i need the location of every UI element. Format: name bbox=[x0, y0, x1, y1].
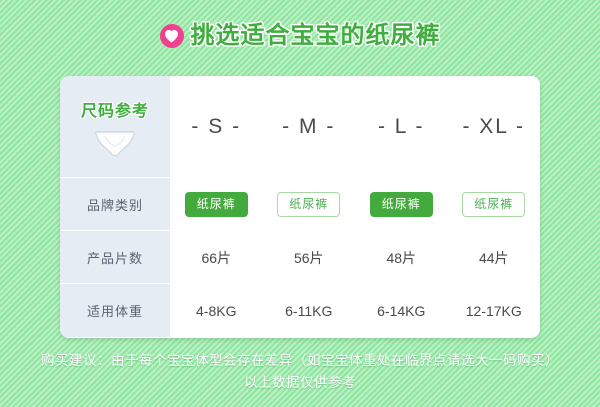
table-row: 适用体重 4-8KG 6-11KG 6-14KG 12-17KG bbox=[60, 284, 540, 337]
size-cell-l: - L - bbox=[355, 76, 448, 178]
size-cell-s: - S - bbox=[170, 76, 263, 178]
table-cell: 12-17KG bbox=[448, 284, 541, 337]
footer-line-1: 购买建议：由于每个宝宝体型会存在差异（如宝宝体重处在临界点请选大一码购买） bbox=[0, 350, 600, 372]
category-badge[interactable]: 纸尿裤 bbox=[370, 192, 433, 217]
table-cell: 纸尿裤 bbox=[448, 178, 541, 231]
table-cell: 4-8KG bbox=[170, 284, 263, 337]
purchase-advice-note: 购买建议：由于每个宝宝体型会存在差异（如宝宝体重处在临界点请选大一码购买） 以上… bbox=[0, 350, 600, 394]
size-cell-xl: - XL - bbox=[448, 76, 541, 178]
size-reference-label: 尺码参考 bbox=[81, 97, 149, 121]
row-cells-suitable-weight: 4-8KG 6-11KG 6-14KG 12-17KG bbox=[170, 284, 540, 337]
heart-icon bbox=[160, 24, 184, 48]
table-header-row: 尺码参考 - S - - M - - L - bbox=[60, 76, 540, 178]
cell-value: 48片 bbox=[386, 248, 416, 268]
cell-value: 6-11KG bbox=[285, 303, 332, 319]
page-title: 挑选适合宝宝的纸尿裤 bbox=[191, 24, 441, 48]
size-label: - M - bbox=[282, 115, 335, 139]
size-label: - S - bbox=[191, 115, 241, 139]
size-label: - L - bbox=[378, 115, 425, 139]
cell-value: 66片 bbox=[201, 248, 231, 268]
size-reference-header: 尺码参考 bbox=[60, 76, 170, 178]
category-badge[interactable]: 纸尿裤 bbox=[462, 192, 525, 217]
cell-value: 44片 bbox=[479, 248, 509, 268]
row-label-brand-category: 品牌类别 bbox=[60, 178, 170, 231]
table-cell: 44片 bbox=[448, 231, 541, 284]
row-label-text: 适用体重 bbox=[87, 301, 143, 320]
row-label-text: 品牌类别 bbox=[87, 195, 143, 214]
size-label: - XL - bbox=[462, 115, 525, 139]
table-row: 产品片数 66片 56片 48片 44片 bbox=[60, 231, 540, 284]
cell-value: 4-8KG bbox=[196, 303, 236, 319]
row-cells-piece-count: 66片 56片 48片 44片 bbox=[170, 231, 540, 284]
row-label-piece-count: 产品片数 bbox=[60, 231, 170, 284]
table-cell: 56片 bbox=[263, 231, 356, 284]
table-cell: 纸尿裤 bbox=[263, 178, 356, 231]
category-badge[interactable]: 纸尿裤 bbox=[277, 192, 340, 217]
table-row: 品牌类别 纸尿裤 纸尿裤 纸尿裤 纸尿裤 bbox=[60, 178, 540, 231]
page-background: 挑选适合宝宝的纸尿裤 尺码参考 - S - - bbox=[0, 0, 600, 407]
category-badge[interactable]: 纸尿裤 bbox=[185, 192, 248, 217]
row-cells-brand-category: 纸尿裤 纸尿裤 纸尿裤 纸尿裤 bbox=[170, 178, 540, 231]
table-cell: 66片 bbox=[170, 231, 263, 284]
table-cell: 纸尿裤 bbox=[355, 178, 448, 231]
size-label-cells: - S - - M - - L - - XL - bbox=[170, 76, 540, 178]
footer-line-2: 以上数据仅供参考 bbox=[0, 372, 600, 394]
table-cell: 6-14KG bbox=[355, 284, 448, 337]
row-label-suitable-weight: 适用体重 bbox=[60, 284, 170, 337]
diaper-icon bbox=[93, 127, 137, 157]
row-label-text: 产品片数 bbox=[87, 248, 143, 267]
size-chart-card: 尺码参考 - S - - M - - L - bbox=[60, 76, 540, 338]
cell-value: 56片 bbox=[294, 248, 324, 268]
cell-value: 6-14KG bbox=[377, 303, 425, 319]
size-cell-m: - M - bbox=[263, 76, 356, 178]
table-cell: 6-11KG bbox=[263, 284, 356, 337]
table-cell: 48片 bbox=[355, 231, 448, 284]
table-cell: 纸尿裤 bbox=[170, 178, 263, 231]
page-header: 挑选适合宝宝的纸尿裤 bbox=[0, 14, 600, 58]
cell-value: 12-17KG bbox=[466, 303, 522, 319]
